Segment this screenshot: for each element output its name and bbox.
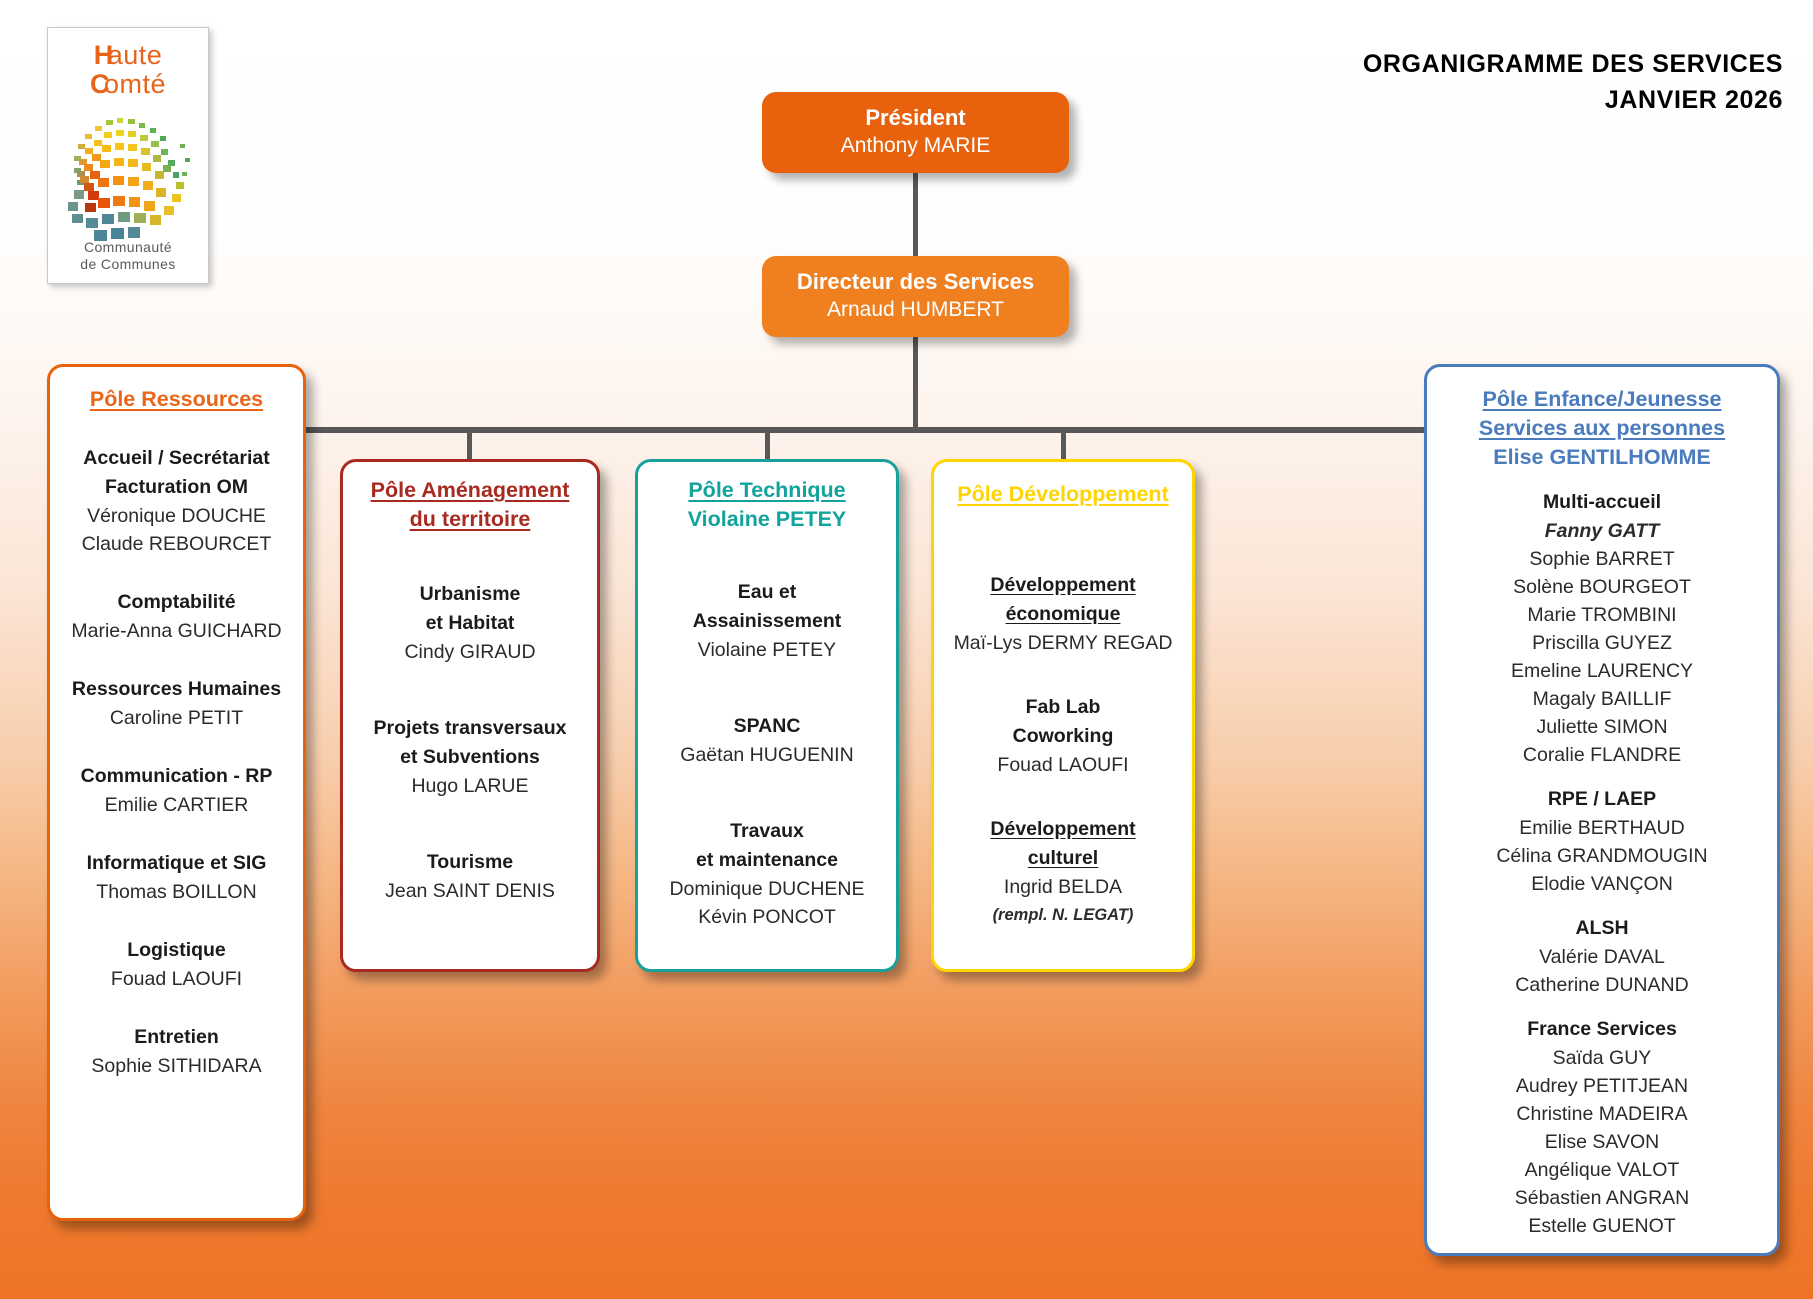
- person-name-lead: Fanny GATT: [1435, 517, 1769, 545]
- person-name: Violaine PETEY: [646, 636, 888, 664]
- service-title: Facturation OM: [58, 473, 295, 502]
- person-name: Juliette SIMON: [1435, 713, 1769, 741]
- pole-developpement-heading: Pôle Développement: [942, 480, 1184, 509]
- service-title: France Services: [1435, 1015, 1769, 1044]
- card-pole-amenagement-du-territoire[interactable]: Pôle Aménagement du territoire Urbanisme…: [340, 459, 600, 972]
- person-name: Célina GRANDMOUGIN: [1435, 842, 1769, 870]
- page-title-line2: JANVIER 2026: [1363, 82, 1783, 118]
- president-name: Anthony MARIE: [762, 132, 1069, 160]
- service-title: et Subventions: [351, 743, 589, 772]
- person-name: Coralie FLANDRE: [1435, 741, 1769, 769]
- logo-haute-comte: Haute Comté: [47, 27, 209, 284]
- logo-h: H: [94, 40, 108, 71]
- person-name: Thomas BOILLON: [58, 878, 295, 906]
- service-title: Ressources Humaines: [58, 675, 295, 704]
- service-note: (rempl. N. LEGAT): [942, 901, 1184, 929]
- person-name: Emilie CARTIER: [58, 791, 295, 819]
- connector-horizontal-bus: [305, 427, 1427, 433]
- page-title: ORGANIGRAMME DES SERVICES JANVIER 2026: [1363, 46, 1783, 118]
- page-title-line1: ORGANIGRAMME DES SERVICES: [1363, 46, 1783, 82]
- service-title: Informatique et SIG: [58, 849, 295, 878]
- service-title: Comptabilité: [58, 588, 295, 617]
- service-title: Fab Lab: [942, 693, 1184, 722]
- person-name: Elise SAVON: [1435, 1128, 1769, 1156]
- service-title: Coworking: [942, 722, 1184, 751]
- person-name: Kévin PONCOT: [646, 903, 888, 931]
- person-name: Cindy GIRAUD: [351, 638, 589, 666]
- service-title: Urbanisme: [351, 580, 589, 609]
- person-name: Marie-Anna GUICHARD: [58, 617, 295, 645]
- service-title: Développement: [942, 571, 1184, 600]
- person-name: Gaëtan HUGUENIN: [646, 741, 888, 769]
- service-title: Assainissement: [646, 607, 888, 636]
- logo-subtitle-line1: Communauté: [48, 239, 208, 256]
- logo-omte: omté: [104, 69, 166, 99]
- person-name: Catherine DUNAND: [1435, 971, 1769, 999]
- service-title: Logistique: [58, 936, 295, 965]
- person-name: Elodie VANÇON: [1435, 870, 1769, 898]
- service-title: Entretien: [58, 1023, 295, 1052]
- person-name: Dominique DUCHENE: [646, 875, 888, 903]
- person-name: Sébastien ANGRAN: [1435, 1184, 1769, 1212]
- pole-ressources-heading: Pôle Ressources: [58, 385, 295, 414]
- person-name: Angélique VALOT: [1435, 1156, 1769, 1184]
- pole-amenagement-heading-line2: du territoire: [351, 505, 589, 534]
- connector-drop-developpement: [1061, 430, 1066, 462]
- person-name: Fouad LAOUFI: [58, 965, 295, 993]
- connector-drop-technique: [765, 430, 770, 462]
- person-name: Valérie DAVAL: [1435, 943, 1769, 971]
- service-title: Travaux: [646, 817, 888, 846]
- connector-drop-amenagement: [467, 430, 472, 462]
- person-name: Magaly BAILLIF: [1435, 685, 1769, 713]
- service-title: Communication - RP: [58, 762, 295, 791]
- logo-subtitle: Communauté de Communes: [48, 239, 208, 273]
- person-name: Véronique DOUCHE: [58, 502, 295, 530]
- person-name: Marie TROMBINI: [1435, 601, 1769, 629]
- logo-aute: aute: [108, 40, 163, 70]
- service-title: et maintenance: [646, 846, 888, 875]
- logo-swirl-graphic: [54, 114, 202, 244]
- president-title: Président: [762, 92, 1069, 132]
- logo-subtitle-line2: de Communes: [48, 256, 208, 273]
- card-pole-technique[interactable]: Pôle Technique Violaine PETEY Eau et Ass…: [635, 459, 899, 972]
- person-name: Audrey PETITJEAN: [1435, 1072, 1769, 1100]
- connector-directeur-down: [913, 337, 918, 432]
- service-title: culturel: [942, 844, 1184, 873]
- person-name: Maï-Lys DERMY REGAD: [942, 629, 1184, 657]
- person-name: Caroline PETIT: [58, 704, 295, 732]
- person-name: Emeline LAURENCY: [1435, 657, 1769, 685]
- person-name: Emilie BERTHAUD: [1435, 814, 1769, 842]
- person-name: Christine MADEIRA: [1435, 1100, 1769, 1128]
- service-title: RPE / LAEP: [1435, 785, 1769, 814]
- box-directeur-des-services[interactable]: Directeur des Services Arnaud HUMBERT: [762, 256, 1069, 337]
- card-pole-ressources[interactable]: Pôle Ressources Accueil / Secrétariat Fa…: [47, 364, 306, 1221]
- person-name: Priscilla GUYEZ: [1435, 629, 1769, 657]
- pole-technique-lead: Violaine PETEY: [646, 505, 888, 534]
- person-name: Fouad LAOUFI: [942, 751, 1184, 779]
- person-name: Ingrid BELDA: [942, 873, 1184, 901]
- pole-enfance-heading-line2: Services aux personnes: [1435, 414, 1769, 443]
- directeur-title: Directeur des Services: [762, 256, 1069, 296]
- service-title: Développement: [942, 815, 1184, 844]
- box-president[interactable]: Président Anthony MARIE: [762, 92, 1069, 173]
- service-title: économique: [942, 600, 1184, 629]
- service-title: Multi-accueil: [1435, 488, 1769, 517]
- card-pole-enfance-jeunesse[interactable]: Pôle Enfance/Jeunesse Services aux perso…: [1424, 364, 1780, 1256]
- service-title: et Habitat: [351, 609, 589, 638]
- person-name: Claude REBOURCET: [58, 530, 295, 558]
- person-name: Hugo LARUE: [351, 772, 589, 800]
- logo-word-haute: Haute: [48, 40, 208, 71]
- connector-president-directeur: [913, 173, 918, 257]
- person-name: Estelle GUENOT: [1435, 1212, 1769, 1240]
- person-name: Sophie SITHIDARA: [58, 1052, 295, 1080]
- service-title: Tourisme: [351, 848, 589, 877]
- logo-word-comte: Comté: [48, 69, 208, 100]
- pole-technique-heading: Pôle Technique: [646, 476, 888, 505]
- card-pole-developpement[interactable]: Pôle Développement Développement économi…: [931, 459, 1195, 972]
- logo-c: C: [90, 69, 104, 100]
- service-title: Accueil / Secrétariat: [58, 444, 295, 473]
- person-name: Sophie BARRET: [1435, 545, 1769, 573]
- pole-amenagement-heading-line1: Pôle Aménagement: [351, 476, 589, 505]
- pole-enfance-heading-line1: Pôle Enfance/Jeunesse: [1435, 385, 1769, 414]
- person-name: Solène BOURGEOT: [1435, 573, 1769, 601]
- directeur-name: Arnaud HUMBERT: [762, 296, 1069, 324]
- service-title: Eau et: [646, 578, 888, 607]
- service-title: ALSH: [1435, 914, 1769, 943]
- service-title: Projets transversaux: [351, 714, 589, 743]
- person-name: Jean SAINT DENIS: [351, 877, 589, 905]
- pole-enfance-lead: Elise GENTILHOMME: [1435, 443, 1769, 472]
- person-name: Saïda GUY: [1435, 1044, 1769, 1072]
- service-title: SPANC: [646, 712, 888, 741]
